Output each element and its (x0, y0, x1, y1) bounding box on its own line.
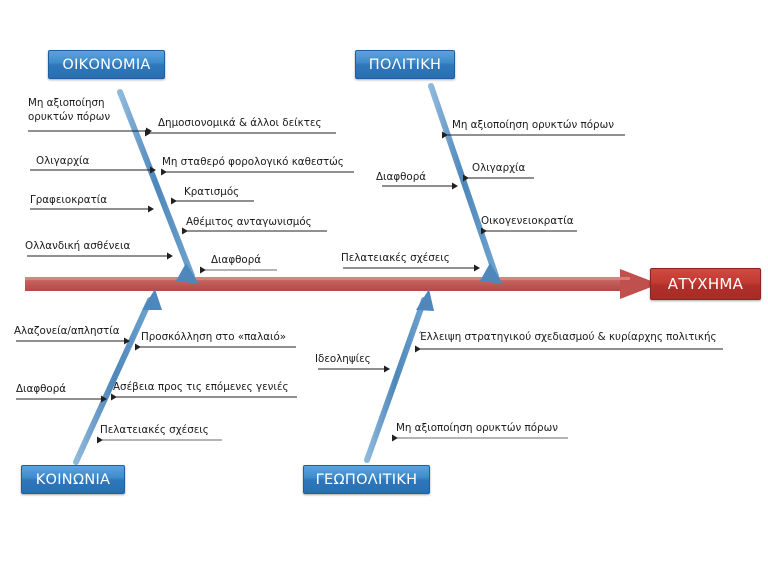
cause-label-br-outer-0: Ιδεοληψίες (315, 353, 371, 366)
cause-label-tr-inner-2: Οικογενειοκρατία (481, 215, 574, 228)
cause-label-tl-outer-0: Μη αξιοποίηση ορυκτών πόρων (28, 97, 128, 124)
cause-label-bl-outer-1: Διαφθορά (16, 383, 66, 396)
cause-label-br-inner-0: Έλλειψη στρατηγικού σχεδιασμού & κυρίαρχ… (419, 331, 717, 344)
cause-label-tl-inner-0: Δημοσιονομικά & άλλοι δείκτες (158, 117, 322, 130)
cause-label-tl-inner-3: Αθέμιτος ανταγωνισμός (186, 216, 312, 229)
cause-label-bl-outer-0: Αλαζονεία/απληστία (14, 325, 120, 338)
cause-label-bl-inner-1: Ασέβεια προς τις επόμενες γενιές (113, 381, 289, 394)
category-label-geopolitiki: ΓΕΩΠΟΛΙΤΙΚΗ (316, 472, 418, 488)
main-spine (25, 269, 659, 299)
category-label-koinonia: ΚΟΙΝΩΝΙΑ (36, 472, 111, 488)
category-box-geopolitiki[interactable]: ΓΕΩΠΟΛΙΤΙΚΗ (303, 465, 430, 494)
category-box-politiki[interactable]: ΠΟΛΙΤΙΚΗ (355, 50, 455, 79)
category-label-politiki: ΠΟΛΙΤΙΚΗ (369, 57, 441, 73)
cause-label-tl-outer-2: Γραφειοκρατία (30, 194, 107, 207)
category-box-oikonomia[interactable]: ΟΙΚΟΝΟΜΙΑ (48, 50, 165, 79)
cause-text-line1: Μη αξιοποίηση (28, 97, 105, 109)
cause-label-bl-inner-2: Πελατειακές σχέσεις (100, 424, 209, 437)
category-box-koinonia[interactable]: ΚΟΙΝΩΝΙΑ (21, 465, 125, 494)
cause-label-tl-inner-2: Κρατισμός (184, 186, 239, 199)
cause-label-bl-inner-0: Προσκόλληση στο «παλαιό» (141, 331, 286, 344)
cause-label-tr-inner-1: Ολιγαρχία (472, 162, 525, 175)
cause-label-tl-outer-1: Ολιγαρχία (36, 155, 89, 168)
fishbone-diagram-canvas: ΟΙΚΟΝΟΜΙΑ ΠΟΛΙΤΙΚΗ ΚΟΙΝΩΝΙΑ ΓΕΩΠΟΛΙΤΙΚΗ … (0, 0, 768, 576)
cause-label-tl-outer-3: Ολλανδική ασθένεια (25, 240, 130, 253)
effect-box-atyxima[interactable]: ΑΤΥΧΗΜΑ (650, 268, 761, 300)
category-label-oikonomia: ΟΙΚΟΝΟΜΙΑ (62, 57, 150, 73)
cause-label-tr-outer-1: Πελατειακές σχέσεις (341, 252, 450, 265)
effect-label: ΑΤΥΧΗΜΑ (668, 275, 743, 293)
cause-label-tr-inner-0: Μη αξιοποίηση ορυκτών πόρων (452, 119, 614, 132)
cause-text-line2: ορυκτών πόρων (28, 111, 110, 123)
cause-label-tl-inner-4: Διαφθορά (211, 254, 261, 267)
cause-label-tl-inner-1: Μη σταθερό φορολογικό καθεστώς (162, 156, 344, 169)
cause-label-br-inner-1: Μη αξιοποίηση ορυκτών πόρων (396, 422, 558, 435)
cause-label-tr-outer-0: Διαφθορά (376, 171, 426, 184)
